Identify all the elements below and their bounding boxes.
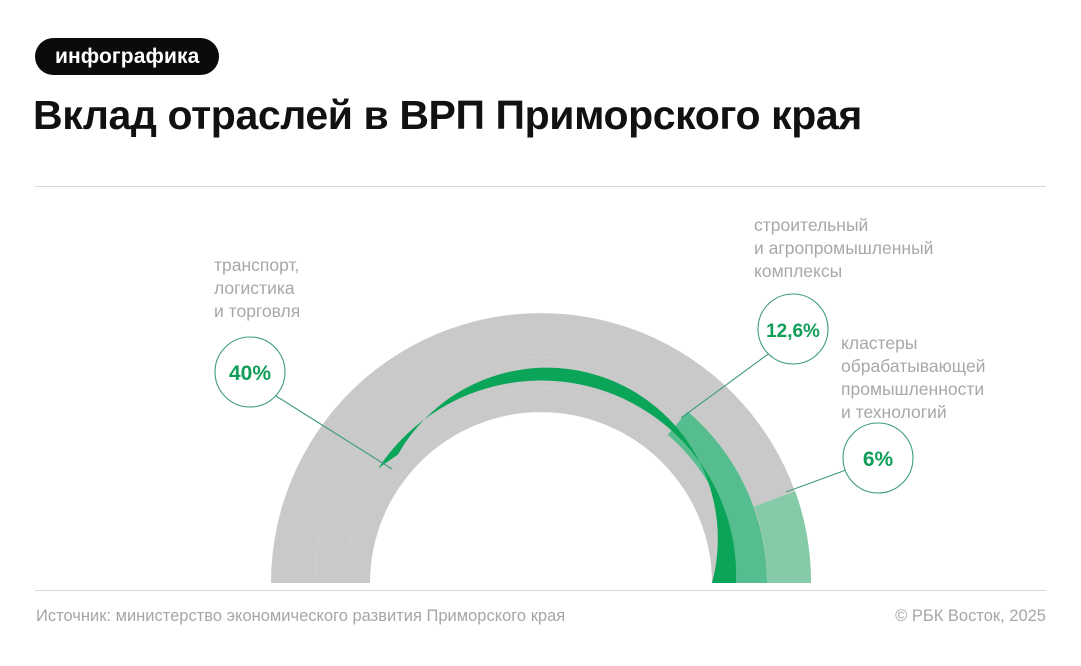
bubble-value-clusters: 6% <box>863 448 894 471</box>
annotation-transport-label: транспорт, логистика и торговля <box>214 254 300 323</box>
bubble-value-construction: 12,6% <box>766 321 820 342</box>
source-note: Источник: министерство экономического ра… <box>36 607 565 626</box>
connector-line-clusters <box>786 470 846 492</box>
infographic-page: инфографика Вклад отраслей в ВРП Приморс… <box>0 0 1081 666</box>
bubble-transport: 40% <box>215 337 285 407</box>
bubble-value-transport: 40% <box>229 362 271 385</box>
annotation-construction-label: строительный и агропромышленный комплекс… <box>754 214 933 283</box>
annotation-clusters-label: кластеры обрабатывающей промышленности и… <box>841 332 985 424</box>
footer-divider <box>35 590 1046 591</box>
bubble-clusters: 6% <box>843 423 913 493</box>
copyright-note: © РБК Восток, 2025 <box>895 607 1046 626</box>
bubble-construction: 12,6% <box>758 294 828 364</box>
